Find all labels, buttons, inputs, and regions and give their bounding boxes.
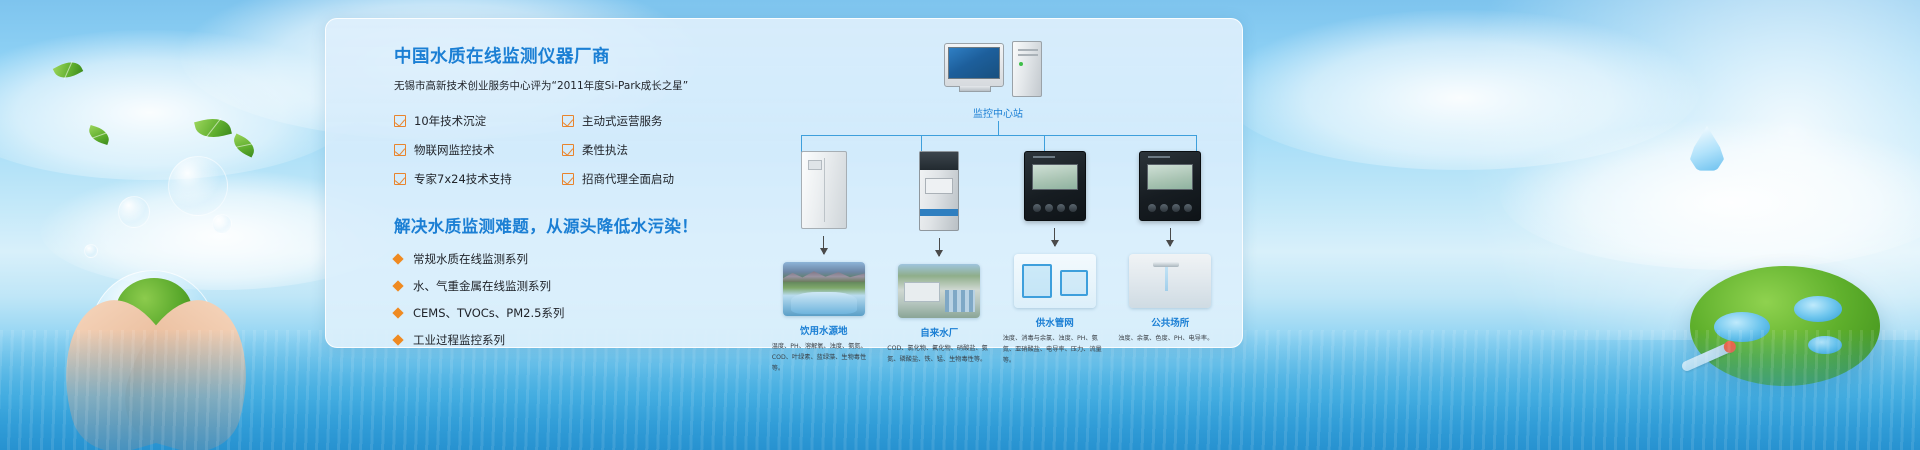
checkbox-checked-icon: [394, 173, 406, 185]
checklist-item: 招商代理全面启动: [562, 171, 724, 187]
device-caption-title: 供水管网: [1036, 315, 1074, 329]
monitoring-diagram: 监控中心站 饮用水源地 温度、PH、溶解氧、浊度、氨氮、COD、叶绿素、蓝绿藻、…: [766, 33, 1228, 337]
lake-1: [1714, 312, 1770, 342]
list-item-label: 工业过程监控系列: [413, 332, 505, 348]
connector-drop-1: [801, 135, 802, 152]
device-column-4: 公共场所 浊度、余氯、色度、PH、电导率。: [1113, 151, 1229, 375]
arrow-down-icon: [939, 238, 940, 256]
arrow-down-icon: [1170, 228, 1171, 246]
scene-photo-pipeline: [1014, 254, 1096, 308]
hands-holding-tree: [60, 240, 270, 450]
checkbox-checked-icon: [562, 144, 574, 156]
cabinet-panel: [808, 160, 822, 170]
device-caption-title: 自来水厂: [920, 325, 958, 339]
lake-3: [1808, 336, 1842, 354]
list-item-label: 水、气重金属在线监测系列: [413, 278, 551, 294]
water-cabinet-icon: [801, 151, 847, 229]
leaf-icon-4: [230, 133, 258, 157]
checklist-item-label: 10年技术沉淀: [414, 113, 486, 129]
device-caption-desc: 温度、PH、溶解氧、浊度、氨氮、COD、叶绿素、蓝绿藻、生物毒性等。: [772, 342, 876, 375]
cloud-1: [0, 30, 360, 180]
cloud-3: [1220, 10, 1700, 170]
pc-tower-icon: [1012, 41, 1042, 97]
water-quality-banner: 中国水质在线监测仪器厂商 无锡市高新技术创业服务中心评为“2011年度Si-Pa…: [0, 0, 1920, 450]
power-led: [1019, 62, 1023, 66]
device-caption-desc: COD、氯化物、氟化物、硝酸盐、氨氮、磷酸盐、铁、锰、生物毒性等。: [887, 344, 991, 366]
checkbox-checked-icon: [562, 173, 574, 185]
list-item: 水、气重金属在线监测系列: [394, 278, 724, 294]
checklist-item-label: 物联网监控技术: [414, 142, 495, 158]
analyzer-head: [920, 152, 958, 170]
checklist-item: 柔性执法: [562, 142, 724, 158]
scene-photo-waterworks: [898, 264, 980, 318]
lake-2: [1794, 296, 1842, 322]
checklist-item: 主动式运营服务: [562, 113, 724, 129]
text-column: 中国水质在线监测仪器厂商 无锡市高新技术创业服务中心评为“2011年度Si-Pa…: [394, 43, 724, 359]
list-item: CEMS、TVOCs、PM2.5系列: [394, 305, 724, 321]
connector-horizontal-bus: [801, 135, 1196, 136]
bubble-1: [168, 156, 228, 216]
checklist-item-label: 主动式运营服务: [582, 113, 663, 129]
checkbox-checked-icon: [394, 144, 406, 156]
drive-slot: [1018, 49, 1038, 51]
checkbox-checked-icon: [562, 115, 574, 127]
monitor-base: [959, 86, 991, 92]
connector-drop-3: [1044, 135, 1045, 152]
analyzer-strip: [920, 209, 958, 216]
device-caption-title: 饮用水源地: [800, 323, 848, 337]
list-item: 工业过程监控系列: [394, 332, 724, 348]
controller-buttons: [1033, 204, 1077, 212]
product-series-list: 常规水质在线监测系列 水、气重金属在线监测系列 CEMS、TVOCs、PM2.5…: [394, 251, 724, 348]
water-analyzer-icon: [919, 151, 959, 231]
device-row: 饮用水源地 温度、PH、溶解氧、浊度、氨氮、COD、叶绿素、蓝绿藻、生物毒性等。…: [766, 151, 1228, 375]
bubble-2: [118, 196, 150, 228]
page-title: 中国水质在线监测仪器厂商: [394, 43, 724, 68]
page-subtitle: 无锡市高新技术创业服务中心评为“2011年度Si-Park成长之星”: [394, 78, 724, 93]
connector-drop-2: [921, 135, 922, 152]
checklist-item: 专家7x24技术支持: [394, 171, 562, 187]
monitor-screen: [948, 47, 1000, 79]
checklist-item: 10年技术沉淀: [394, 113, 562, 129]
scene-photo-tap: [1129, 254, 1211, 308]
checkbox-checked-icon: [394, 115, 406, 127]
cabinet-door-line: [824, 158, 825, 222]
list-item: 常规水质在线监测系列: [394, 251, 724, 267]
checklist-item-label: 专家7x24技术支持: [414, 171, 512, 187]
water-controller-icon-2: [1139, 151, 1201, 221]
list-item-label: 常规水质在线监测系列: [413, 251, 528, 267]
diamond-bullet-icon: [392, 280, 403, 291]
drive-slot: [1018, 54, 1038, 56]
analyzer-display: [925, 178, 953, 194]
device-caption-desc: 浊度、余氯、色度、PH、电导率。: [1118, 334, 1222, 345]
device-column-2: 自来水厂 COD、氯化物、氟化物、硝酸盐、氨氮、磷酸盐、铁、锰、生物毒性等。: [882, 151, 998, 375]
section-headline: 解决水质监测难题，从源头降低水污染！: [394, 213, 724, 237]
diamond-bullet-icon: [392, 334, 403, 345]
water-droplet-icon: [1690, 126, 1724, 172]
connector-vertical-main: [998, 121, 999, 135]
arrow-down-icon: [1054, 228, 1055, 246]
grass-earth: [1690, 266, 1880, 386]
device-caption-desc: 浊度、消毒与余氯、浊度、PH、氨氮、亚硝酸盐、电导率、压力、流量等。: [1003, 334, 1107, 367]
controller-brand: [1033, 156, 1055, 158]
bubble-3: [212, 214, 232, 234]
scene-photo-river: [783, 262, 865, 316]
leaf-icon-2: [86, 125, 111, 145]
content-card: 中国水质在线监测仪器厂商 无锡市高新技术创业服务中心评为“2011年度Si-Pa…: [325, 18, 1243, 348]
monitoring-center-label: 监控中心站: [926, 105, 1070, 120]
checklist-item-label: 招商代理全面启动: [582, 171, 674, 187]
controller-buttons: [1148, 204, 1192, 212]
feature-checklist: 10年技术沉淀 主动式运营服务 物联网监控技术 柔性执法 专家7x24技术支持: [394, 113, 724, 187]
arrow-down-icon: [823, 236, 824, 254]
controller-lcd: [1147, 164, 1193, 190]
checklist-item-label: 柔性执法: [582, 142, 628, 158]
monitoring-center-computer: [944, 43, 1052, 101]
water-controller-icon-1: [1024, 151, 1086, 221]
connector-drop-4: [1196, 135, 1197, 152]
leaf-icon-1: [53, 57, 83, 83]
leaf-icon-3: [194, 114, 232, 142]
checklist-item: 物联网监控技术: [394, 142, 562, 158]
monitor-icon: [944, 43, 1004, 87]
diamond-bullet-icon: [392, 307, 403, 318]
device-caption-title: 公共场所: [1151, 315, 1189, 329]
device-column-1: 饮用水源地 温度、PH、溶解氧、浊度、氨氮、COD、叶绿素、蓝绿藻、生物毒性等。: [766, 151, 882, 375]
list-item-label: CEMS、TVOCs、PM2.5系列: [413, 305, 564, 321]
controller-lcd: [1032, 164, 1078, 190]
device-column-3: 供水管网 浊度、消毒与余氯、浊度、PH、氨氮、亚硝酸盐、电导率、压力、流量等。: [997, 151, 1113, 375]
diamond-bullet-icon: [392, 253, 403, 264]
controller-brand: [1148, 156, 1170, 158]
